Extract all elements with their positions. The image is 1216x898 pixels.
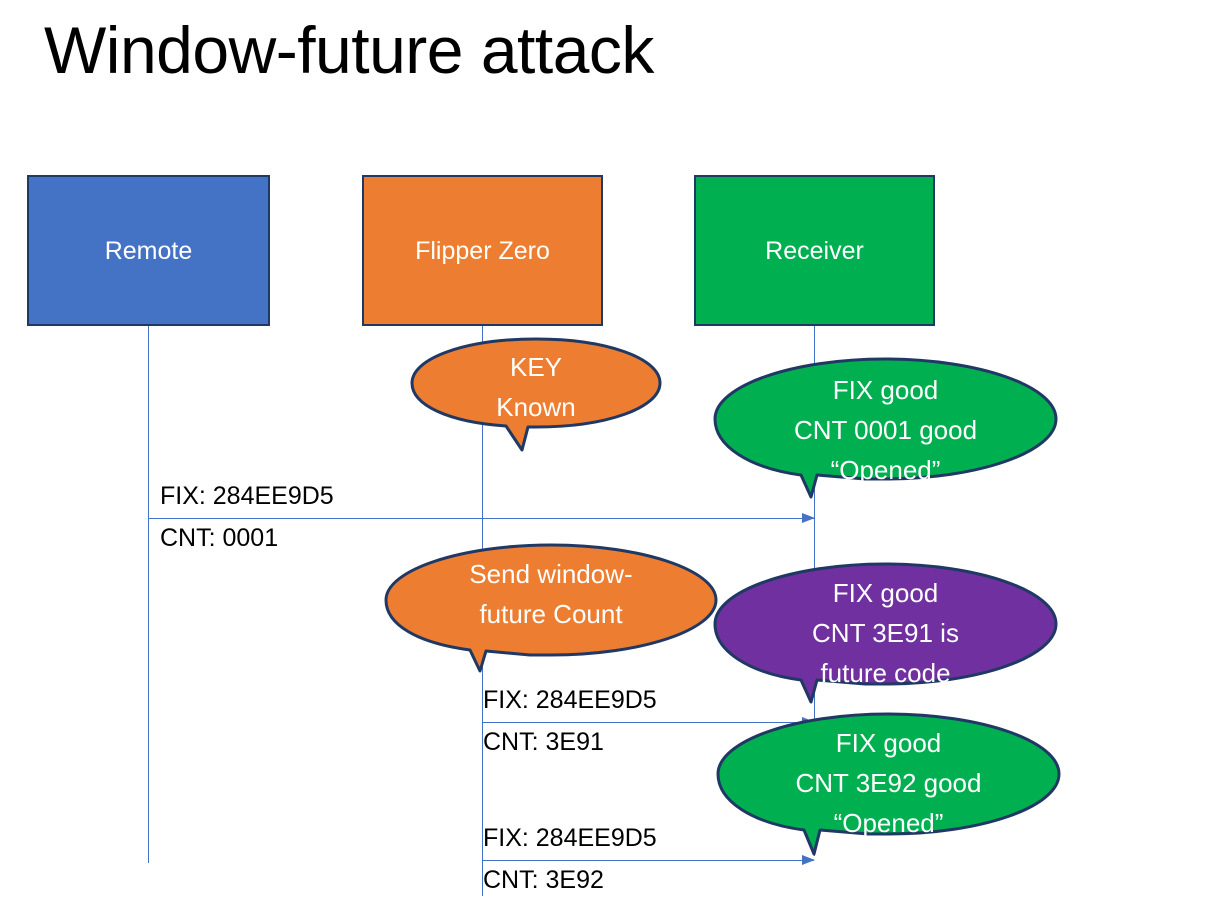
callout-shape-send-window-future: [384, 543, 718, 675]
callout-fix-good-cnt-3e92[interactable]: FIX good CNT 3E92 good “Opened”: [716, 712, 1061, 857]
message-3-fix-label: FIX: 284EE9D5: [483, 822, 657, 854]
callout-shape-key-known: [410, 337, 662, 453]
callout-send-window-future-count[interactable]: Send window- future Count: [384, 543, 718, 675]
callout-key-known[interactable]: KEY Known: [410, 337, 662, 453]
actor-label-receiver: Receiver: [765, 236, 864, 266]
callout-shape-future-code: [713, 562, 1058, 707]
message-arrow-1: [148, 518, 814, 519]
callout-shape-fix-good-3e92: [716, 712, 1061, 857]
page-title: Window-future attack: [44, 8, 1144, 92]
actor-box-receiver[interactable]: Receiver: [694, 175, 935, 326]
actor-label-remote: Remote: [105, 236, 193, 266]
message-2-cnt-label: CNT: 3E91: [483, 726, 604, 758]
callout-cnt-3e91-future-code[interactable]: FIX good CNT 3E91 is future code: [713, 562, 1058, 707]
lifeline-remote: [148, 326, 149, 863]
message-1-fix-label: FIX: 284EE9D5: [160, 480, 334, 512]
message-arrow-3: [482, 860, 814, 861]
message-3-cnt-label: CNT: 3E92: [483, 864, 604, 896]
message-2-fix-label: FIX: 284EE9D5: [483, 684, 657, 716]
actor-box-remote[interactable]: Remote: [27, 175, 270, 326]
callout-shape-fix-good-0001: [713, 357, 1058, 504]
callout-fix-good-cnt-0001[interactable]: FIX good CNT 0001 good “Opened”: [713, 357, 1058, 504]
actor-label-flipper-zero: Flipper Zero: [415, 236, 550, 266]
message-1-cnt-label: CNT: 0001: [160, 522, 278, 554]
slide-canvas: Window-future attack Remote Flipper Zero…: [0, 0, 1216, 898]
actor-box-flipper-zero[interactable]: Flipper Zero: [362, 175, 603, 326]
